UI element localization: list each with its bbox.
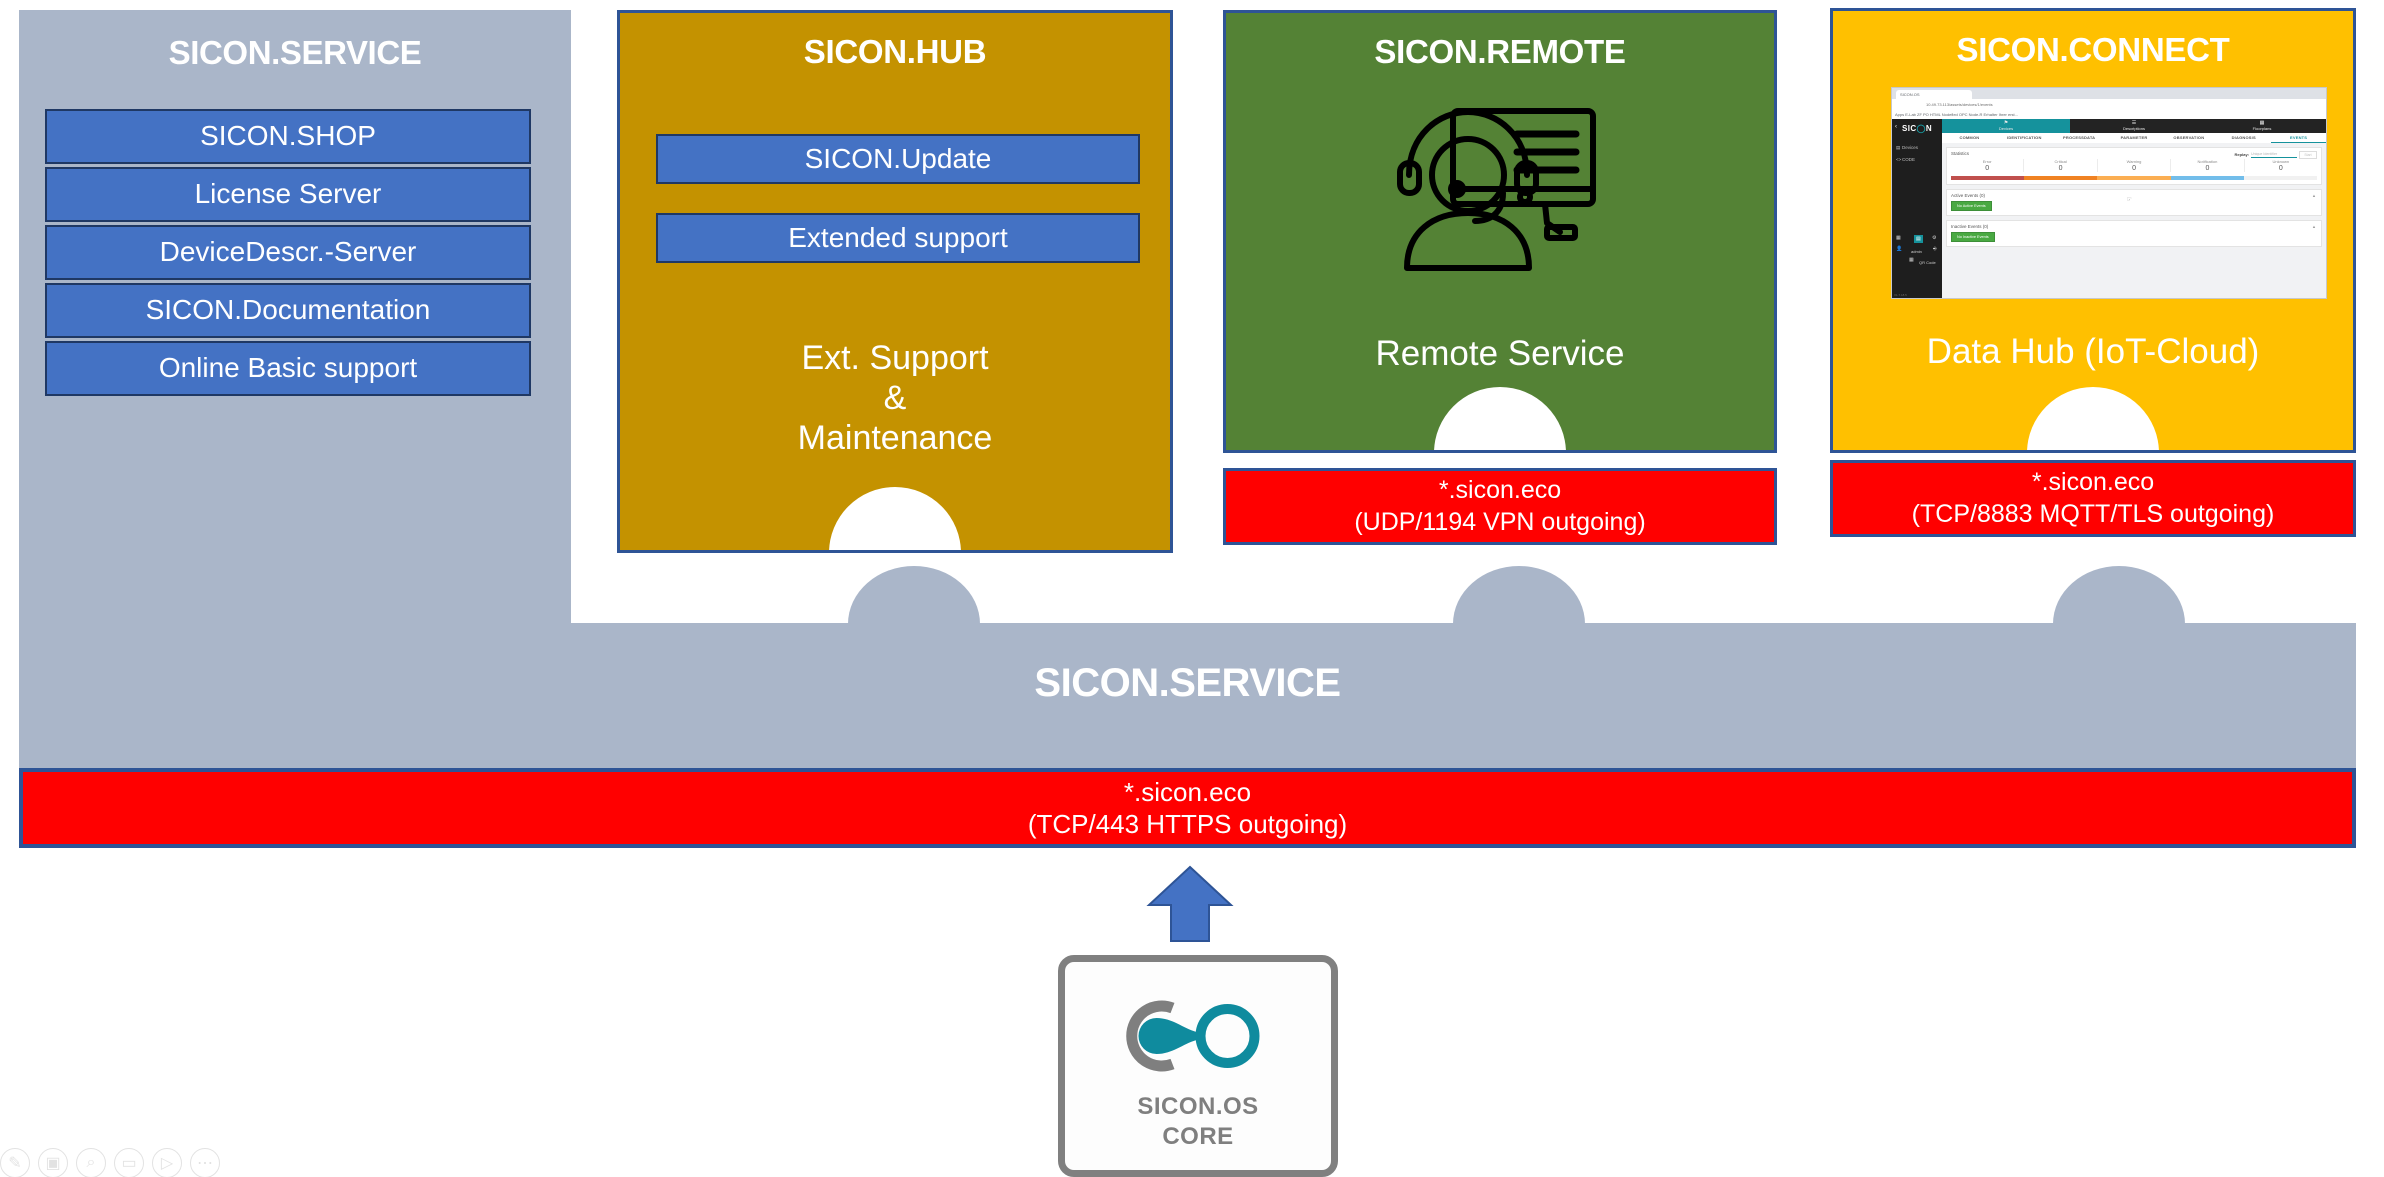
stat-value: 0 <box>2024 165 2096 172</box>
sicon-os-core-label: SICON.OS CORE <box>1065 1092 1331 1152</box>
more-options-icon[interactable]: ⋯ <box>190 1148 220 1177</box>
browser-chrome-bar: SICON.OS <box>1892 88 2326 99</box>
code-icon: <> <box>1896 157 1901 162</box>
layout-icon[interactable]: ▣ <box>38 1148 68 1177</box>
active-events-title: Active Events (0) <box>1947 190 2321 201</box>
bookmarks-text: Apps E-Lab ZF PO HTML Nodefled OPC Node-… <box>1895 112 2018 117</box>
topnav-descriptions-label: Descriptions <box>2123 126 2145 131</box>
remote-connector-notch <box>1434 387 1566 453</box>
base-service-band: SICON.SERVICE <box>19 623 2356 768</box>
connect-ports-detail: (TCP/8883 MQTT/TLS outgoing) <box>1912 499 2275 530</box>
topnav-floorplans[interactable]: ▦ Floorplans <box>2198 119 2326 133</box>
search-icon[interactable]: ⌕ <box>76 1148 106 1177</box>
meter-warning <box>2097 176 2170 180</box>
replay-control: Replay: Unique Identifier Start <box>2235 151 2317 159</box>
pen-icon[interactable]: ✎ <box>0 1148 30 1177</box>
dashboard-body: Statistics Replay: Unique Identifier Sta… <box>1942 143 2326 298</box>
dashboard-sidebar: ‹ SIC◯N ▤ Devices <> CODE ▦ ▤ ⚙ 👤 admin … <box>1892 119 1942 298</box>
replay-start-button[interactable]: Start <box>2299 151 2317 159</box>
device-icon: ▤ <box>1896 145 1900 151</box>
meter-error <box>1951 176 2024 180</box>
tab-processdata[interactable]: PROCESSDATA <box>2052 133 2107 143</box>
service-panel-title: SICON.SERVICE <box>19 34 571 72</box>
browser-url: 10.49.73.113/assets/devices/1/events <box>1926 102 1993 108</box>
stat-notification: Notification 0 <box>2171 159 2244 172</box>
hub-column: SICON.HUB SICON.Update Extended support … <box>617 10 1173 553</box>
collapse-chevron-icon[interactable]: ‹ <box>1895 124 1897 130</box>
qr-icon[interactable]: ▦ <box>1909 257 1914 263</box>
stat-key: Notification <box>2171 159 2243 164</box>
camera-off-icon[interactable]: ▷ <box>152 1148 182 1177</box>
connect-ports-domain: *.sicon.eco <box>2032 467 2154 498</box>
collapse-caret-icon[interactable]: ▲ <box>2312 224 2316 229</box>
base-ports-domain: *.sicon.eco <box>1124 776 1251 809</box>
tab-events[interactable]: EVENTS <box>2271 133 2326 143</box>
connect-title: SICON.CONNECT <box>1833 31 2353 69</box>
base-band-title: SICON.SERVICE <box>19 661 2356 706</box>
headset-support-monitor-icon <box>1395 101 1605 281</box>
stat-key: Unknown <box>2245 159 2317 164</box>
tab-parameter[interactable]: PARAMETER <box>2107 133 2162 143</box>
no-inactive-events-badge: No Inactive Events <box>1951 232 1995 242</box>
topnav-floorplans-label: Floorplans <box>2253 126 2272 131</box>
stat-key: Error <box>1951 159 2023 164</box>
no-active-events-badge: No Active Events <box>1951 201 1992 211</box>
hub-item-sicon-update[interactable]: SICON.Update <box>656 134 1140 184</box>
version-label: V1.7.18.5 <box>1894 293 1907 297</box>
hub-connector-notch <box>829 487 961 553</box>
subtitles-icon[interactable]: ▭ <box>114 1148 144 1177</box>
sicon-os-infinity-logo <box>1111 988 1286 1083</box>
service-item-devicedescr-server[interactable]: DeviceDescr.-Server <box>45 225 531 280</box>
settings-icon[interactable]: ⚙ <box>1932 235 1936 241</box>
hub-caption: Ext. Support & Maintenance <box>620 338 1170 458</box>
dock-qr-label: QR Code <box>1919 260 1936 265</box>
connect-connector-notch <box>2027 387 2159 453</box>
sidebar-item-code[interactable]: CODE <box>1902 157 1915 162</box>
hub-caption-line-3: Maintenance <box>620 418 1170 458</box>
stat-value: 0 <box>1951 165 2023 172</box>
remote-ports-domain: *.sicon.eco <box>1439 475 1561 506</box>
remote-ports-detail: (UDP/1194 VPN outgoing) <box>1354 507 1645 538</box>
hub-item-label: SICON.Update <box>805 144 992 175</box>
stat-value: 0 <box>2245 165 2317 172</box>
os-core-label-line-1: SICON.OS <box>1065 1092 1331 1122</box>
base-bump-connect <box>2053 566 2185 624</box>
remote-caption: Remote Service <box>1226 333 1774 374</box>
topnav-descriptions[interactable]: ☰ Descriptions <box>2070 119 2198 133</box>
statistics-row: Error 0 Critical 0 Warning 0 Notificat <box>1947 159 2321 174</box>
inactive-events-title: Inactive Events (0) <box>1947 221 2321 232</box>
service-item-label: SICON.Documentation <box>146 295 431 326</box>
service-item-label: SICON.SHOP <box>200 121 376 152</box>
active-events-card: Active Events (0) ☞ ▲ No Active Events <box>1946 189 2322 216</box>
service-item-label: DeviceDescr.-Server <box>160 237 417 268</box>
remote-title: SICON.REMOTE <box>1226 33 1774 71</box>
stat-value: 0 <box>2098 165 2170 172</box>
stat-unknown: Unknown 0 <box>2245 159 2317 172</box>
service-item-sicon-documentation[interactable]: SICON.Documentation <box>45 283 531 338</box>
base-bump-remote <box>1453 566 1585 624</box>
collapse-caret-icon[interactable]: ▲ <box>2312 193 2316 198</box>
sicon-brand-logo: SIC◯N <box>1902 124 1932 133</box>
connect-column: SICON.CONNECT SICON.OS 10.49.73.113/asse… <box>1830 8 2356 453</box>
tab-common[interactable]: COMMON <box>1942 133 1997 143</box>
stat-key: Warning <box>2098 159 2170 164</box>
replay-input[interactable]: Unique Identifier <box>2251 151 2297 158</box>
base-ports-detail: (TCP/443 HTTPS outgoing) <box>1028 808 1347 841</box>
stat-error: Error 0 <box>1951 159 2024 172</box>
hub-title: SICON.HUB <box>620 33 1170 71</box>
stat-warning: Warning 0 <box>2098 159 2171 172</box>
service-item-license-server[interactable]: License Server <box>45 167 531 222</box>
presentation-mini-toolbar: ✎ ▣ ⌕ ▭ ▷ ⋯ <box>0 1148 220 1177</box>
topnav-devices-label: Devices <box>1999 126 2013 131</box>
hub-item-label: Extended support <box>788 223 1008 254</box>
sidebar-dock: ▦ ▤ ⚙ 👤 admin ⎆ ▦ QR Code <box>1892 235 1942 268</box>
tab-diagnosis[interactable]: DIAGNOSIS <box>2216 133 2271 143</box>
sidebar-footer: V1.7.18.5 <box>1892 292 1942 298</box>
mouse-cursor-icon: ☞ <box>2127 196 2132 203</box>
connect-caption: Data Hub (IoT-Cloud) <box>1833 331 2353 372</box>
dock-user-label: admin <box>1911 249 1922 254</box>
connect-dashboard-screenshot: SICON.OS 10.49.73.113/assets/devices/1/e… <box>1891 87 2327 299</box>
stat-key: Critical <box>2024 159 2096 164</box>
connect-ports-badge: *.sicon.eco (TCP/8883 MQTT/TLS outgoing) <box>1830 460 2356 537</box>
meter-unknown <box>2244 176 2317 180</box>
remote-ports-badge: *.sicon.eco (UDP/1194 VPN outgoing) <box>1223 468 1777 545</box>
browser-tab[interactable]: SICON.OS <box>1896 90 1972 99</box>
user-icon[interactable]: 👤 <box>1896 246 1902 252</box>
remote-column: SICON.REMOTE <box>1223 10 1777 453</box>
meter-notification <box>2171 176 2244 180</box>
tab-identification[interactable]: IDENTIFICATION <box>1997 133 2052 143</box>
statistics-card: Statistics Replay: Unique Identifier Sta… <box>1946 147 2322 185</box>
dashboard-topnav: ⚑ Devices ☰ Descriptions ▦ Floorplans <box>1942 119 2326 133</box>
sicon-os-core-card: SICON.OS CORE <box>1058 955 1338 1177</box>
upward-arrow-icon <box>1145 865 1235 943</box>
hub-caption-line-2: & <box>620 378 1170 418</box>
statistics-meter <box>1951 176 2317 180</box>
topnav-devices[interactable]: ⚑ Devices <box>1942 119 2070 133</box>
service-item-label: Online Basic support <box>159 353 417 384</box>
stat-value: 0 <box>2171 165 2243 172</box>
device-icon-selected[interactable]: ▤ <box>1914 235 1923 243</box>
dashboard-icon[interactable]: ▦ <box>1896 235 1901 241</box>
stat-critical: Critical 0 <box>2024 159 2097 172</box>
diagram-canvas: SICON.SERVICE SICON.SHOP License Server … <box>0 0 2384 1177</box>
os-core-label-line-2: CORE <box>1065 1122 1331 1152</box>
meter-critical <box>2024 176 2097 180</box>
hub-caption-line-1: Ext. Support <box>620 338 1170 378</box>
service-item-sicon-shop[interactable]: SICON.SHOP <box>45 109 531 164</box>
inactive-events-card: Inactive Events (0) ▲ No Inactive Events <box>1946 220 2322 247</box>
hub-item-extended-support[interactable]: Extended support <box>656 213 1140 263</box>
service-item-online-basic-support[interactable]: Online Basic support <box>45 341 531 396</box>
sidebar-item-devices[interactable]: Devices <box>1902 145 1918 150</box>
replay-label: Replay: <box>2235 152 2249 157</box>
tab-observation[interactable]: OBSERVATION <box>2161 133 2216 143</box>
logout-icon[interactable]: ⎆ <box>1933 246 1937 252</box>
service-item-label: License Server <box>195 179 382 210</box>
base-ports-badge: *.sicon.eco (TCP/443 HTTPS outgoing) <box>19 768 2356 848</box>
